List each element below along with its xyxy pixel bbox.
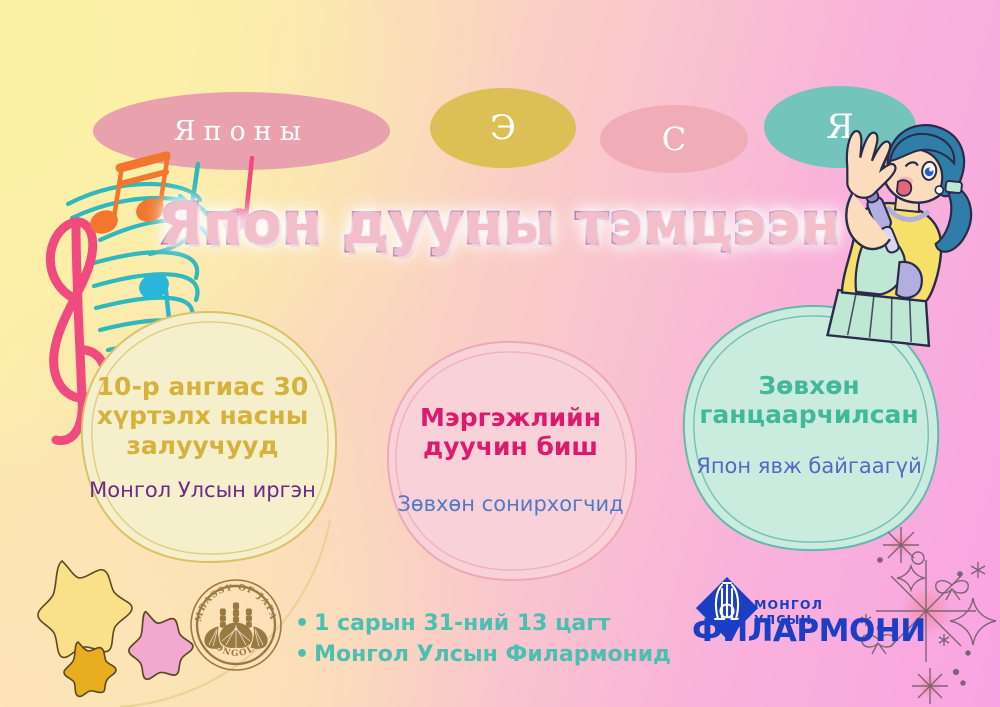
bullet-icon: • <box>295 642 309 667</box>
event-detail-text: 1 сарын 31-ний 13 цагт <box>314 611 610 636</box>
embassy-top-text: EMBASSY OF JAPAN <box>188 577 278 623</box>
bullet-icon: • <box>295 611 309 636</box>
event-detail-line: •Монгол Улсын Филармонид <box>295 639 671 670</box>
event-detail-text: Монгол Улсын Филармонид <box>314 642 671 667</box>
poster-canvas: Японы Э С Я <box>0 0 1000 707</box>
embassy-of-japan-seal: EMBASSY OF JAPAN MONGOLIA <box>188 577 284 673</box>
philharmonic-logo: МОНГОЛ УЛСЫН ФИЛАРМОНИ <box>694 575 859 663</box>
philharmonic-name: ФИЛАРМОНИ <box>692 613 926 649</box>
event-details: •1 сарын 31-ний 13 цагт •Монгол Улсын Фи… <box>295 608 671 670</box>
event-detail-line: •1 сарын 31-ний 13 цагт <box>295 608 671 639</box>
